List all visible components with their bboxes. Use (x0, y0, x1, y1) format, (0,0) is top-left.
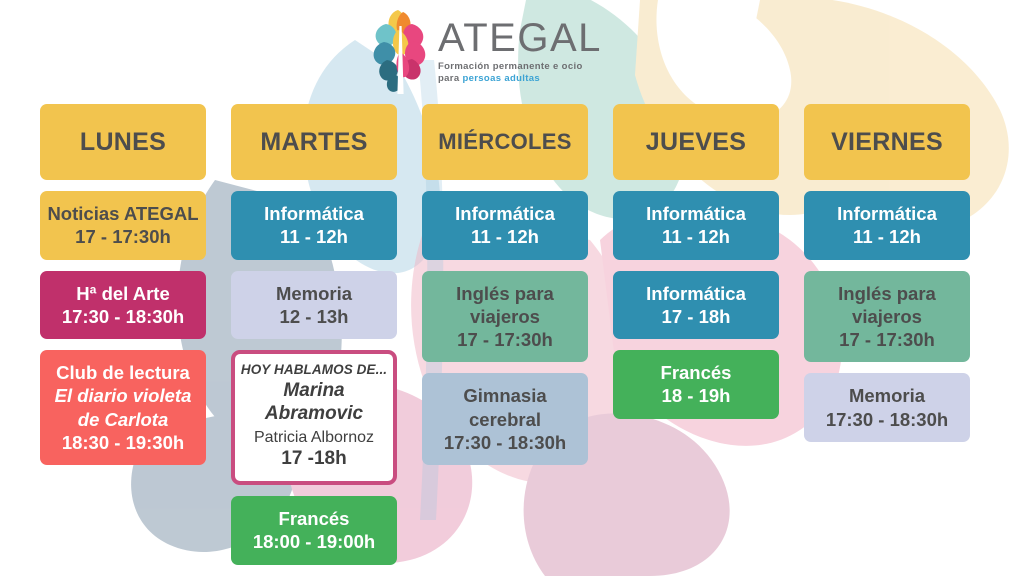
activity-time: 18:30 - 19:30h (46, 431, 200, 454)
activity-time: 11 - 12h (237, 225, 391, 248)
special-card-name: Marina Abramovic (240, 380, 388, 426)
activity-card[interactable]: Inglés para viajeros17 - 17:30h (422, 271, 588, 363)
activity-subtitle: El diario violeta de Carlota (46, 384, 200, 431)
activity-card[interactable]: Inglés para viajeros17 - 17:30h (804, 271, 970, 363)
activity-card-special[interactable]: HOY HABLAMOS DE...Marina AbramovicPatric… (231, 350, 397, 485)
activity-time: 18:00 - 19:00h (237, 530, 391, 553)
activity-time: 17 - 17:30h (810, 328, 964, 351)
logo-wordmark: ATEGAL (438, 18, 602, 58)
activity-title: Informática (810, 202, 964, 225)
activity-card[interactable]: Informática11 - 12h (613, 191, 779, 260)
activity-title: Memoria (810, 384, 964, 407)
activity-card[interactable]: Memoria12 - 13h (231, 271, 397, 340)
activity-title: Informática (237, 202, 391, 225)
activity-title: Inglés para viajeros (428, 282, 582, 329)
bg-leaf-lobe-white-cut (656, 0, 791, 121)
day-header-lunes[interactable]: LUNES (40, 104, 206, 180)
activity-card[interactable]: Memoria17:30 - 18:30h (804, 373, 970, 442)
activity-card[interactable]: Gimnasia cerebral17:30 - 18:30h (422, 373, 588, 465)
activity-time: 11 - 12h (619, 225, 773, 248)
weekly-schedule-grid: LUNESNoticias ATEGAL17 - 17:30hHª del Ar… (40, 104, 988, 565)
activity-card[interactable]: Club de lecturaEl diario violeta de Carl… (40, 350, 206, 465)
activity-title: Inglés para viajeros (810, 282, 964, 329)
day-column-viernes: VIERNESInformática11 - 12hInglés para vi… (804, 104, 970, 565)
activity-title: Memoria (237, 282, 391, 305)
activity-time: 11 - 12h (428, 225, 582, 248)
activity-title: Hª del Arte (46, 282, 200, 305)
activity-title: Informática (428, 202, 582, 225)
special-card-time: 17 -18h (240, 448, 388, 471)
activity-title: Informática (619, 202, 773, 225)
day-header-martes[interactable]: MARTES (231, 104, 397, 180)
logo-tagline: Formación permanente e ocio para persoas… (438, 61, 602, 85)
activity-time: 12 - 13h (237, 305, 391, 328)
day-header-viernes[interactable]: VIERNES (804, 104, 970, 180)
activity-card[interactable]: Noticias ATEGAL17 - 17:30h (40, 191, 206, 260)
activity-time: 18 - 19h (619, 384, 773, 407)
activity-title: Francés (237, 507, 391, 530)
tagline-line-2-highlight: persoas adultas (462, 73, 540, 84)
day-column-lunes: LUNESNoticias ATEGAL17 - 17:30hHª del Ar… (40, 104, 206, 565)
day-header-jueves[interactable]: JUEVES (613, 104, 779, 180)
ategal-logo: ATEGAL Formación permanente e ocio para … (370, 8, 670, 98)
activity-card[interactable]: Francés18 - 19h (613, 350, 779, 419)
activity-time: 17 - 17:30h (428, 328, 582, 351)
day-column-jueves: JUEVESInformática11 - 12hInformática17 -… (613, 104, 779, 565)
special-card-presenter: Patricia Albornoz (240, 428, 388, 447)
tagline-line-2-prefix: para (438, 73, 462, 84)
activity-time: 17:30 - 18:30h (810, 408, 964, 431)
activity-title: Gimnasia cerebral (428, 384, 582, 431)
activity-card[interactable]: Informática11 - 12h (231, 191, 397, 260)
activity-title: Informática (619, 282, 773, 305)
activity-time: 11 - 12h (810, 225, 964, 248)
activity-time: 17 - 17:30h (46, 225, 200, 248)
activity-title: Club de lectura (46, 361, 200, 384)
activity-title: Noticias ATEGAL (46, 202, 200, 225)
activity-card[interactable]: Informática17 - 18h (613, 271, 779, 340)
special-card-kicker: HOY HABLAMOS DE... (240, 362, 388, 378)
ategal-leaf-logo-icon (370, 8, 432, 94)
activity-title: Francés (619, 361, 773, 384)
activity-time: 17:30 - 18:30h (428, 431, 582, 454)
tagline-line-1: Formación permanente e ocio (438, 61, 583, 72)
activity-card[interactable]: Francés18:00 - 19:00h (231, 496, 397, 565)
activity-card[interactable]: Informática11 - 12h (804, 191, 970, 260)
activity-card[interactable]: Hª del Arte17:30 - 18:30h (40, 271, 206, 340)
activity-card[interactable]: Informática11 - 12h (422, 191, 588, 260)
activity-time: 17 - 18h (619, 305, 773, 328)
day-header-miércoles[interactable]: MIÉRCOLES (422, 104, 588, 180)
activity-time: 17:30 - 18:30h (46, 305, 200, 328)
day-column-miércoles: MIÉRCOLESInformática11 - 12hInglés para … (422, 104, 588, 565)
day-column-martes: MARTESInformática11 - 12hMemoria12 - 13h… (231, 104, 397, 565)
